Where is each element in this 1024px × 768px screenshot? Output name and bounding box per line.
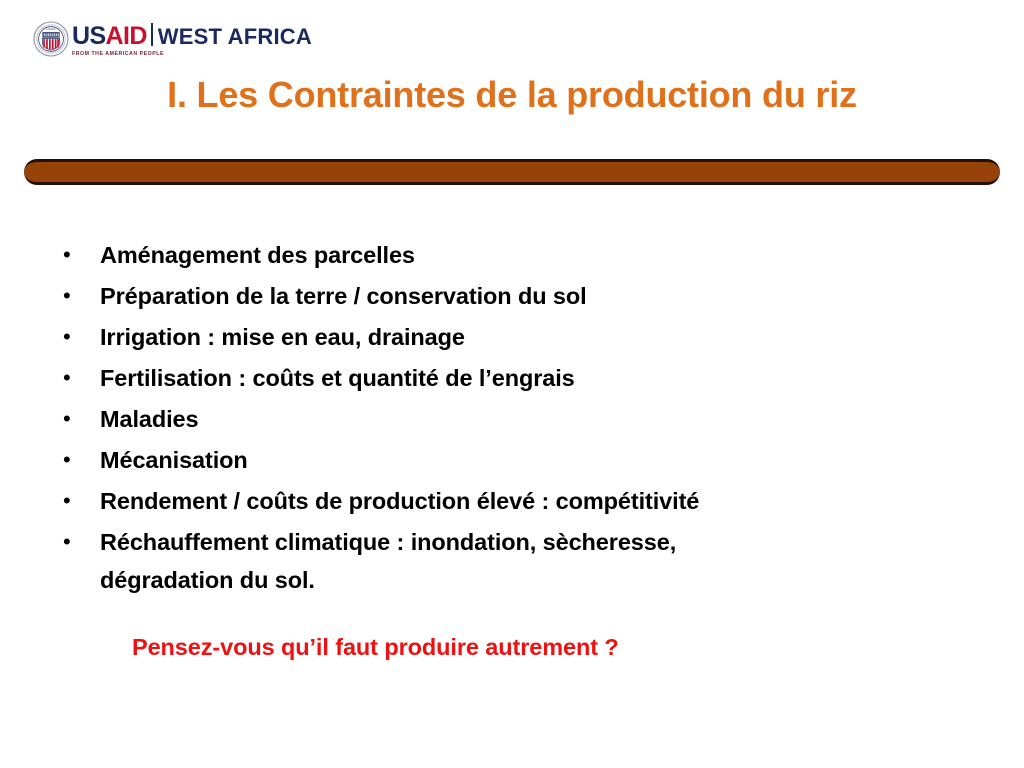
constraints-list: • Aménagement des parcelles • Préparatio…: [58, 236, 978, 602]
bullet-icon: •: [58, 523, 100, 561]
closing-question: Pensez-vous qu’il faut produire autremen…: [132, 634, 619, 661]
list-item: • Irrigation : mise en eau, drainage: [58, 318, 978, 356]
list-item: • Aménagement des parcelles: [58, 236, 978, 274]
usaid-acronym: USAID: [72, 24, 147, 49]
list-item-label: Aménagement des parcelles: [100, 236, 415, 274]
list-item: • Fertilisation : coûts et quantité de l…: [58, 359, 978, 397]
bullet-icon: •: [58, 441, 100, 479]
list-item-label: Rendement / coûts de production élevé : …: [100, 482, 699, 520]
list-item: • Maladies: [58, 400, 978, 438]
usaid-aid-text: AID: [106, 22, 147, 50]
svg-text:USAID: USAID: [47, 27, 56, 31]
list-item-label: Irrigation : mise en eau, drainage: [100, 318, 465, 356]
bullet-icon: •: [58, 318, 100, 356]
list-item: • Réchauffement climatique : inondation,…: [58, 523, 978, 599]
list-item: • Mécanisation: [58, 441, 978, 479]
usaid-logo: USAID USAID WEST AFRICA FROM THE AMERICA…: [33, 19, 312, 59]
wordmark-row: USAID WEST AFRICA: [72, 21, 312, 49]
list-item: • Rendement / coûts de production élevé …: [58, 482, 978, 520]
list-item-label-multiline: Réchauffement climatique : inondation, s…: [100, 523, 676, 599]
bullet-icon: •: [58, 482, 100, 520]
bullet-icon: •: [58, 359, 100, 397]
list-item-label: Réchauffement climatique : inondation, s…: [100, 523, 676, 561]
usaid-tagline: FROM THE AMERICAN PEOPLE: [72, 51, 312, 57]
usaid-seal-icon: USAID: [33, 21, 69, 57]
list-item: • Préparation de la terre / conservation…: [58, 277, 978, 315]
list-item-label: Maladies: [100, 400, 198, 438]
bullet-icon: •: [58, 236, 100, 274]
bullet-icon: •: [58, 277, 100, 315]
list-item-label: Mécanisation: [100, 441, 248, 479]
wordmark-divider: [151, 23, 153, 46]
region-label: WEST AFRICA: [158, 26, 312, 48]
page-title: I. Les Contraintes de la production du r…: [0, 74, 1024, 116]
usaid-wordmark: USAID WEST AFRICA FROM THE AMERICAN PEOP…: [72, 21, 312, 57]
usaid-us-text: US: [72, 22, 106, 50]
list-item-label: Préparation de la terre / conservation d…: [100, 277, 587, 315]
list-item-label: Fertilisation : coûts et quantité de l’e…: [100, 359, 575, 397]
bullet-icon: •: [58, 400, 100, 438]
slide-canvas: USAID USAID WEST AFRICA FROM THE AMERICA…: [0, 0, 1024, 768]
title-divider-bar: [24, 159, 1000, 185]
list-item-label-continued: dégradation du sol.: [100, 561, 676, 599]
